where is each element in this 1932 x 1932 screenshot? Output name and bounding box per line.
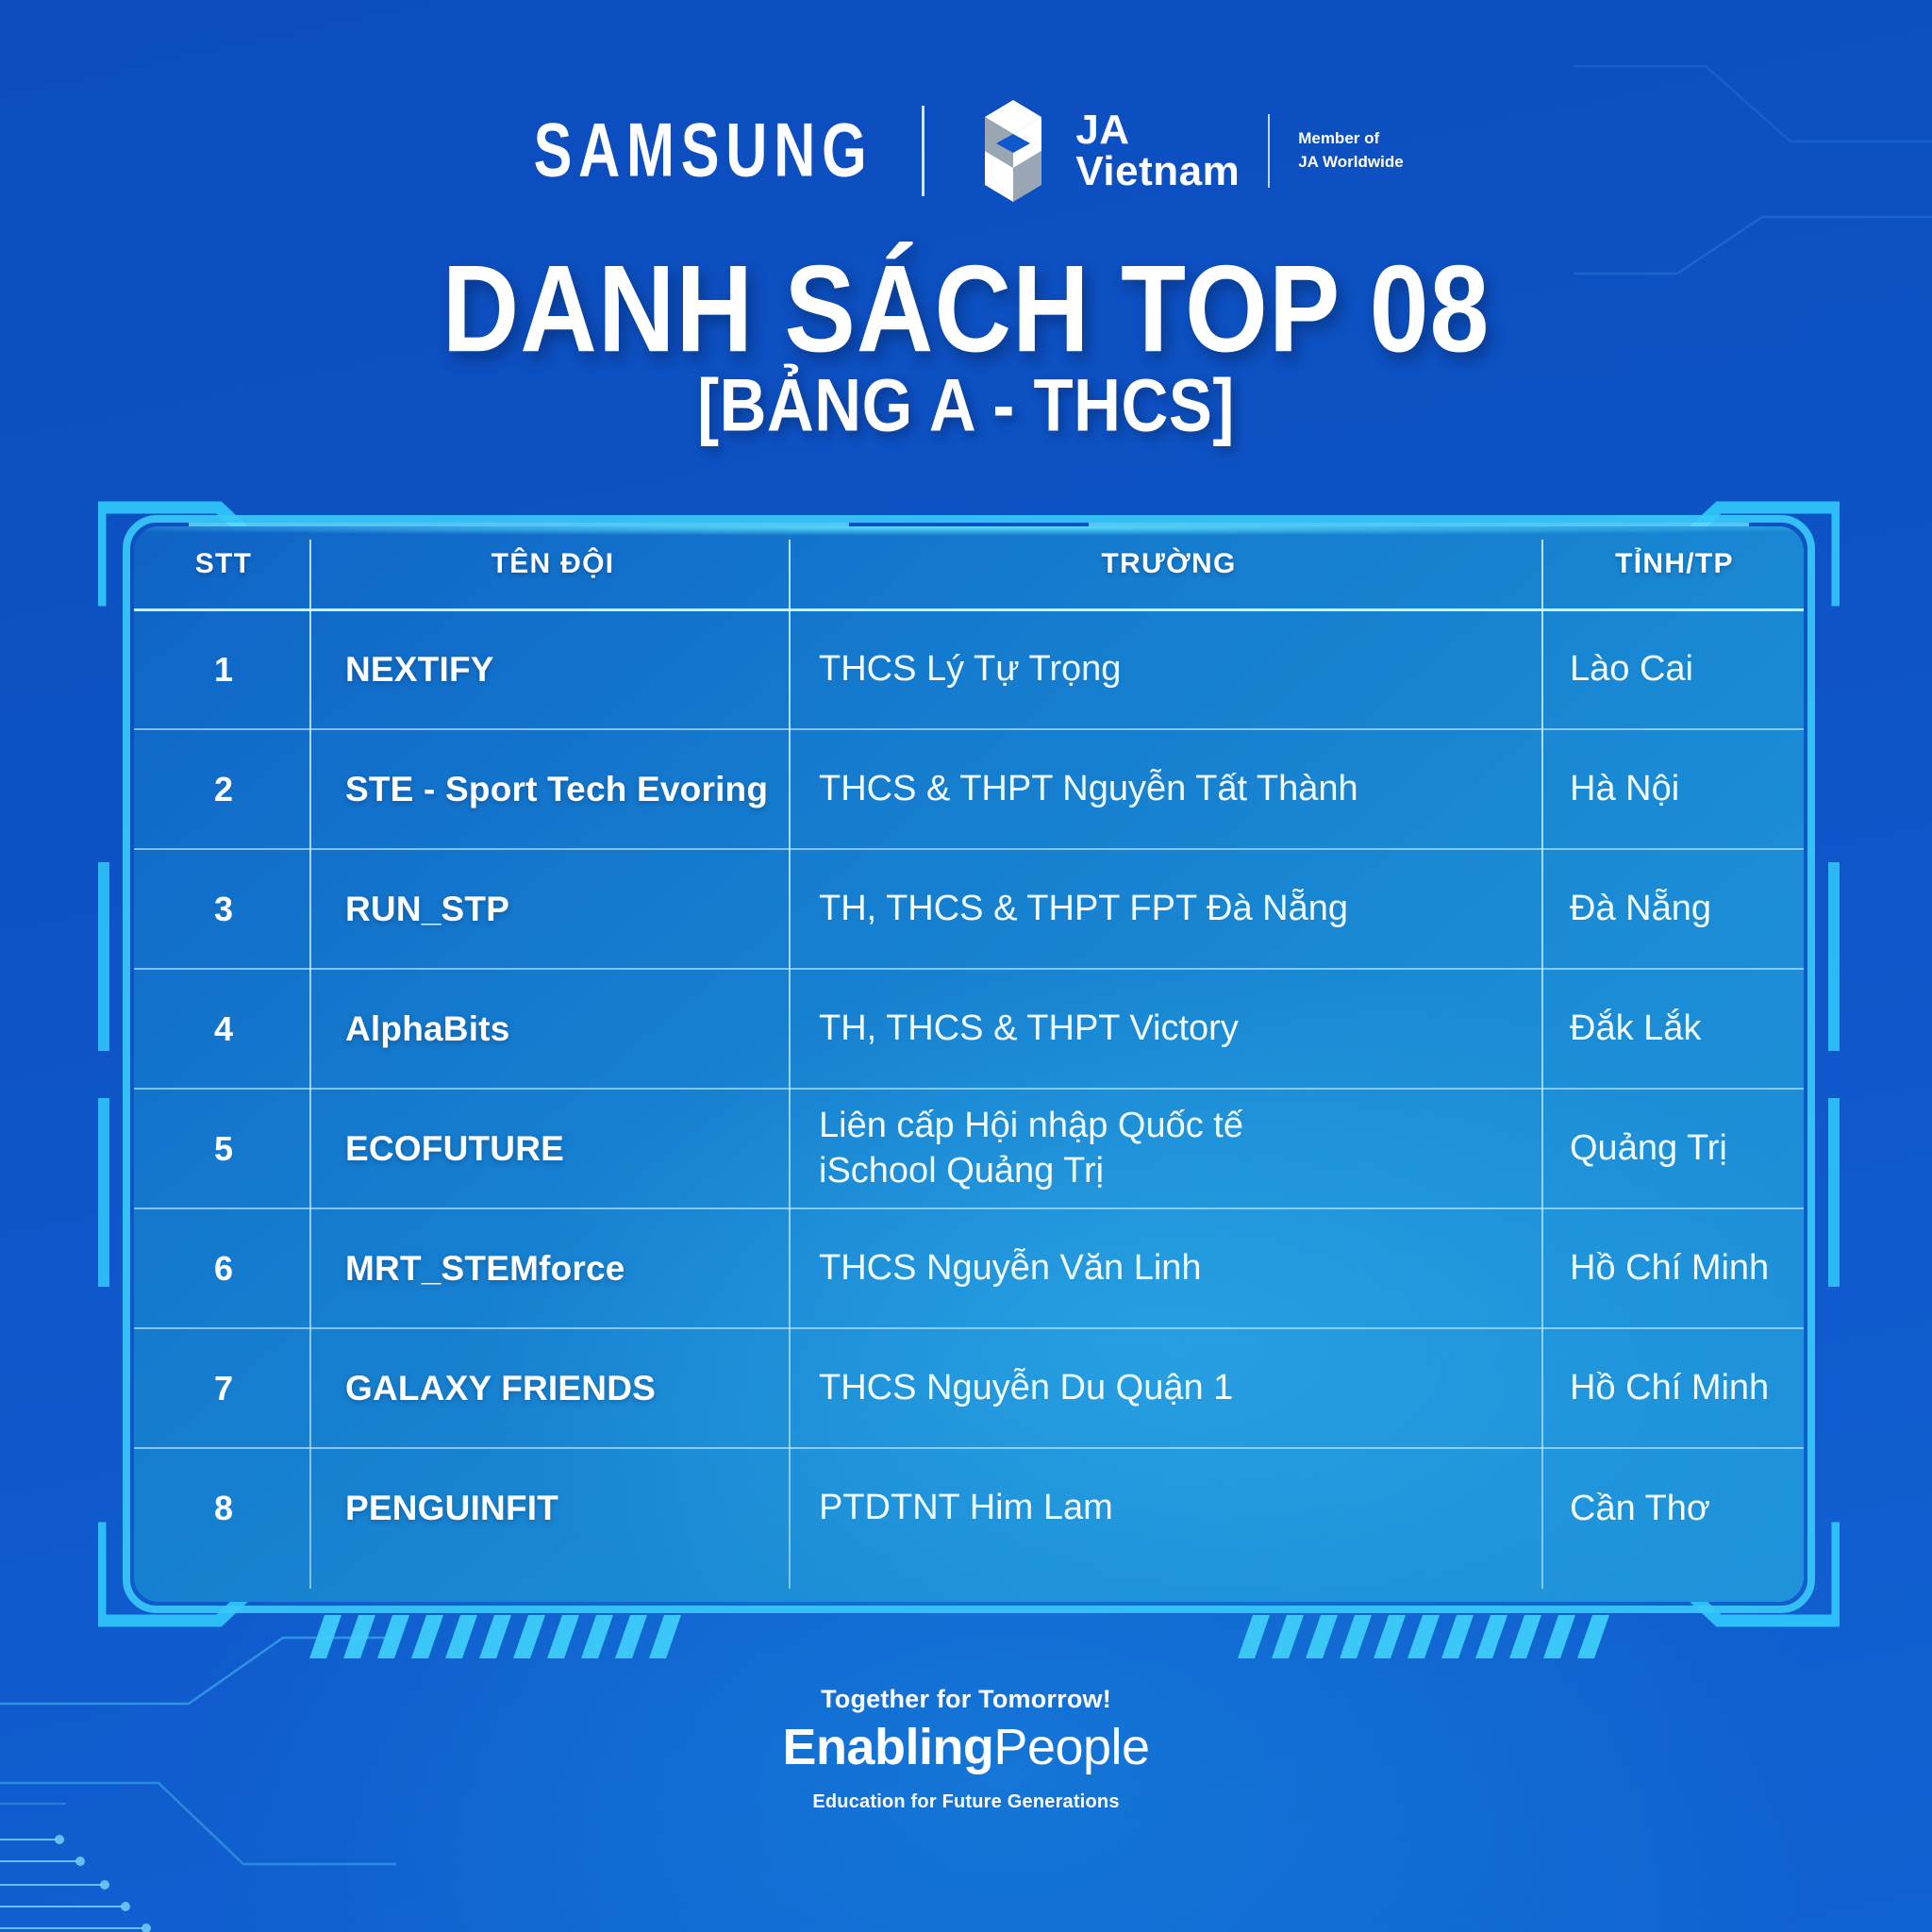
footer-slogan-bold: Enabling [782, 1719, 993, 1775]
table-header-row: STT TÊN ĐỘI TRƯỜNG TỈNH/TP [134, 526, 1804, 609]
page-subtitle: [BẢNG A - THCS] [0, 362, 1932, 447]
cell-school: Liên cấp Hội nhập Quốc tế iSchool Quảng … [792, 1089, 1545, 1208]
footer-slogan-light: People [993, 1719, 1149, 1775]
table-panel: STT TÊN ĐỘI TRƯỜNG TỈNH/TP 1 NEXTIFY THC… [134, 526, 1804, 1602]
cell-school: THCS Lý Tự Trọng [792, 609, 1545, 729]
logo-divider-secondary [1268, 114, 1270, 188]
table-row[interactable]: 4 AlphaBits TH, THCS & THPT Victory Đắk … [134, 969, 1804, 1089]
table-body: 1 NEXTIFY THCS Lý Tự Trọng Lào Cai 2 STE… [134, 609, 1804, 1568]
col-header-stt: STT [134, 526, 313, 609]
cell-stt: 3 [134, 849, 313, 969]
cell-province: Lào Cai [1545, 609, 1804, 729]
ja-label: JA [1075, 109, 1240, 151]
cell-stt: 8 [134, 1448, 313, 1568]
col-header-school: TRƯỜNG [792, 526, 1545, 609]
cell-school: TH, THCS & THPT FPT Đà Nẵng [792, 849, 1545, 969]
cell-team: MRT_STEMforce [313, 1208, 792, 1328]
cell-school: PTDTNT Him Lam [792, 1448, 1545, 1568]
vietnam-label: Vietnam [1075, 151, 1240, 192]
member-of-block: Member of JA Worldwide [1298, 127, 1403, 174]
cell-stt: 7 [134, 1328, 313, 1448]
logo-divider [922, 106, 924, 196]
cell-school: THCS & THPT Nguyễn Tất Thành [792, 729, 1545, 849]
cell-team: PENGUINFIT [313, 1448, 792, 1568]
cell-team: AlphaBits [313, 969, 792, 1089]
cell-team: RUN_STP [313, 849, 792, 969]
col-header-team: TÊN ĐỘI [313, 526, 792, 609]
table-row[interactable]: 3 RUN_STP TH, THCS & THPT FPT Đà Nẵng Đà… [134, 849, 1804, 969]
cell-school: TH, THCS & THPT Victory [792, 969, 1545, 1089]
samsung-logo: SAMSUNG [534, 113, 874, 190]
cell-stt: 4 [134, 969, 313, 1089]
ja-vietnam-text: JA Vietnam [1075, 109, 1240, 192]
footer-slogan: EnablingPeople [0, 1718, 1932, 1776]
member-of-line2: JA Worldwide [1298, 151, 1403, 175]
footer-subtitle: Education for Future Generations [0, 1791, 1932, 1813]
cell-stt: 2 [134, 729, 313, 849]
table-frame: STT TÊN ĐỘI TRƯỜNG TỈNH/TP 1 NEXTIFY THC… [98, 494, 1840, 1634]
table-row[interactable]: 2 STE - Sport Tech Evoring THCS & THPT N… [134, 729, 1804, 849]
table-row[interactable]: 7 GALAXY FRIENDS THCS Nguyễn Du Quận 1 H… [134, 1328, 1804, 1448]
cell-province: Hồ Chí Minh [1545, 1208, 1804, 1328]
cell-province: Đà Nẵng [1545, 849, 1804, 969]
ranking-table: STT TÊN ĐỘI TRƯỜNG TỈNH/TP 1 NEXTIFY THC… [134, 526, 1804, 1568]
ja-diamond-icon [968, 98, 1058, 204]
cell-team: ECOFUTURE [313, 1089, 792, 1208]
cell-province: Quảng Trị [1545, 1089, 1804, 1208]
footer: Together for Tomorrow! EnablingPeople Ed… [0, 1685, 1932, 1813]
cell-school: THCS Nguyễn Du Quận 1 [792, 1328, 1545, 1448]
ja-vietnam-logo: JA Vietnam [968, 98, 1240, 204]
cell-province: Hồ Chí Minh [1545, 1328, 1804, 1448]
page-title: DANH SÁCH TOP 08 [0, 238, 1932, 380]
table-row[interactable]: 5 ECOFUTURE Liên cấp Hội nhập Quốc tế iS… [134, 1089, 1804, 1208]
cell-stt: 1 [134, 609, 313, 729]
table-row[interactable]: 6 MRT_STEMforce THCS Nguyễn Văn Linh Hồ … [134, 1208, 1804, 1328]
cell-team: NEXTIFY [313, 609, 792, 729]
poster-canvas: SAMSUNG JA Vietnam Member of JA Wor [0, 0, 1932, 1932]
cell-province: Cần Thơ [1545, 1448, 1804, 1568]
table-row[interactable]: 1 NEXTIFY THCS Lý Tự Trọng Lào Cai [134, 609, 1804, 729]
col-header-province: TỈNH/TP [1545, 526, 1804, 609]
hash-marks-left [309, 1615, 706, 1658]
hash-marks-right [1236, 1615, 1632, 1658]
cell-province: Hà Nội [1545, 729, 1804, 849]
table-row[interactable]: 8 PENGUINFIT PTDTNT Him Lam Cần Thơ [134, 1448, 1804, 1568]
table-head: STT TÊN ĐỘI TRƯỜNG TỈNH/TP [134, 526, 1804, 609]
footer-tagline: Together for Tomorrow! [0, 1685, 1932, 1714]
logo-bar: SAMSUNG JA Vietnam Member of JA Wor [0, 98, 1932, 204]
cell-stt: 6 [134, 1208, 313, 1328]
cell-team: STE - Sport Tech Evoring [313, 729, 792, 849]
cell-school: THCS Nguyễn Văn Linh [792, 1208, 1545, 1328]
cell-team: GALAXY FRIENDS [313, 1328, 792, 1448]
cell-stt: 5 [134, 1089, 313, 1208]
cell-province: Đắk Lắk [1545, 969, 1804, 1089]
member-of-line1: Member of [1298, 127, 1403, 151]
